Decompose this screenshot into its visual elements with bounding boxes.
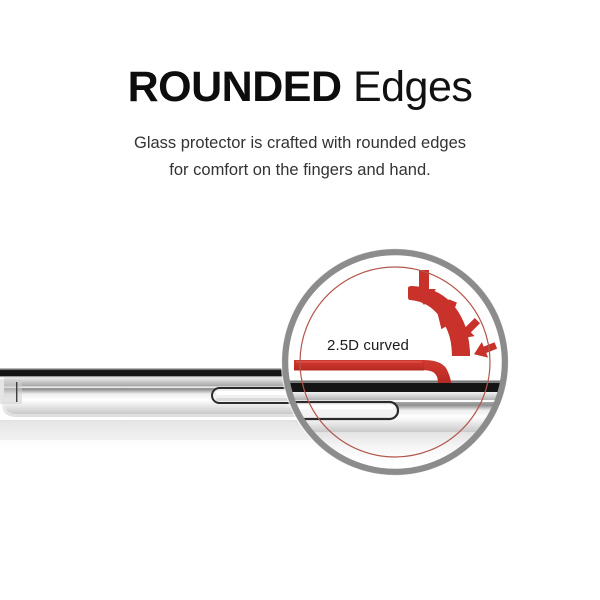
callout-label: 2.5D curved xyxy=(327,337,409,354)
illustration xyxy=(0,0,600,600)
product-feature-graphic: ROUNDED Edges Glass protector is crafted… xyxy=(0,0,600,600)
